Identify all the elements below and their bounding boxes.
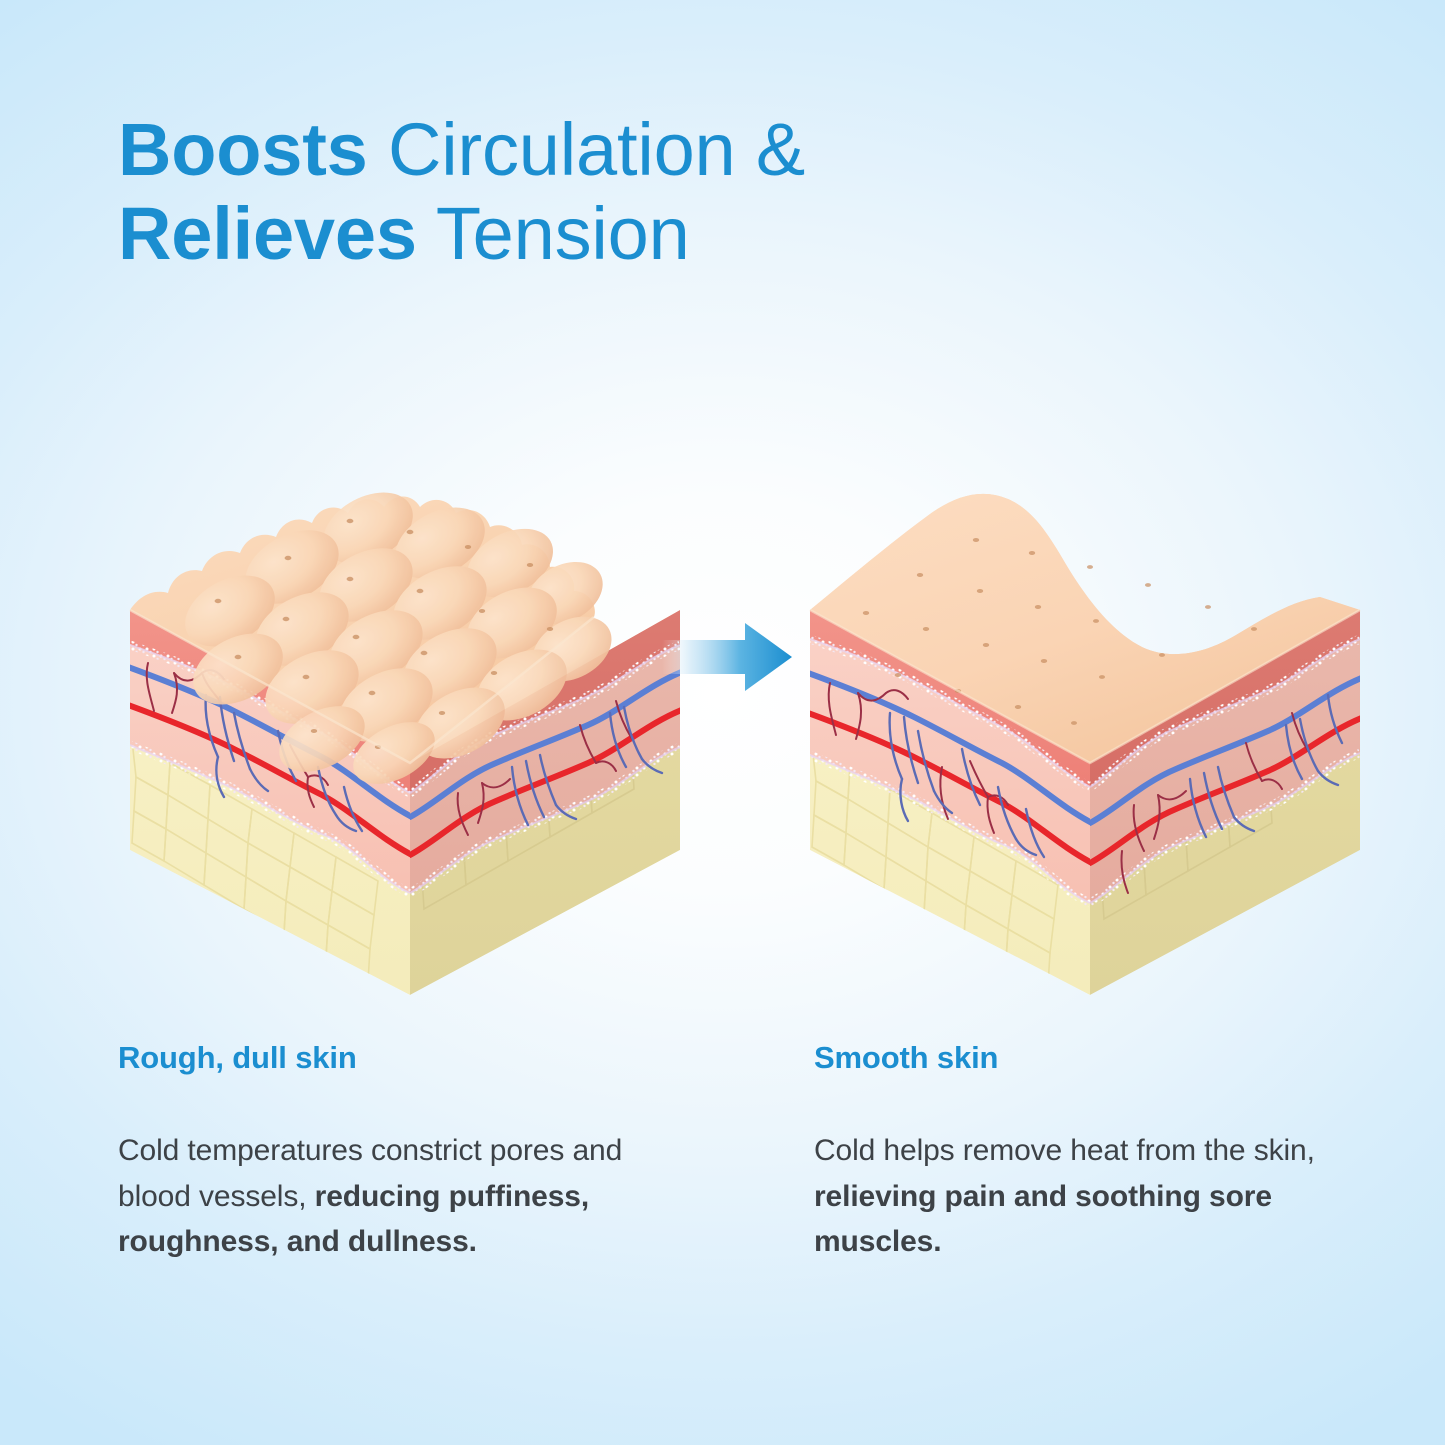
column-body-rough: Cold temperatures constrict pores and bl…	[118, 1128, 678, 1265]
column-body-smooth: Cold helps remove heat from the skin, re…	[814, 1128, 1334, 1265]
rough-skin-block	[128, 478, 684, 995]
arrow-right-icon	[662, 623, 792, 691]
smooth-skin-block	[808, 494, 1364, 995]
comparison-text-columns: Rough, dull skin Cold temperatures const…	[0, 1040, 1445, 1400]
column-rough-skin: Rough, dull skin Cold temperatures const…	[118, 1040, 678, 1265]
smooth-body-plain: Cold helps remove heat from the skin,	[814, 1134, 1315, 1167]
column-heading-rough: Rough, dull skin	[118, 1040, 678, 1076]
column-heading-smooth: Smooth skin	[814, 1040, 1334, 1076]
headline-word-relieves: Relieves	[118, 192, 417, 275]
headline-word-tension: Tension	[436, 192, 690, 275]
page-title: Boosts Circulation & Relieves Tension	[118, 108, 1118, 275]
column-smooth-skin: Smooth skin Cold helps remove heat from …	[814, 1040, 1334, 1265]
smooth-body-bold: relieving pain and soothing sore muscles…	[814, 1180, 1272, 1259]
skin-comparison-illustration	[0, 395, 1445, 1015]
infographic-poster: Boosts Circulation & Relieves Tension	[0, 0, 1445, 1445]
headline-word-circulation: Circulation &	[388, 108, 805, 191]
headline-word-boosts: Boosts	[118, 108, 368, 191]
headline-line-2: Relieves Tension	[118, 192, 1118, 276]
headline-line-1: Boosts Circulation &	[118, 108, 1118, 192]
